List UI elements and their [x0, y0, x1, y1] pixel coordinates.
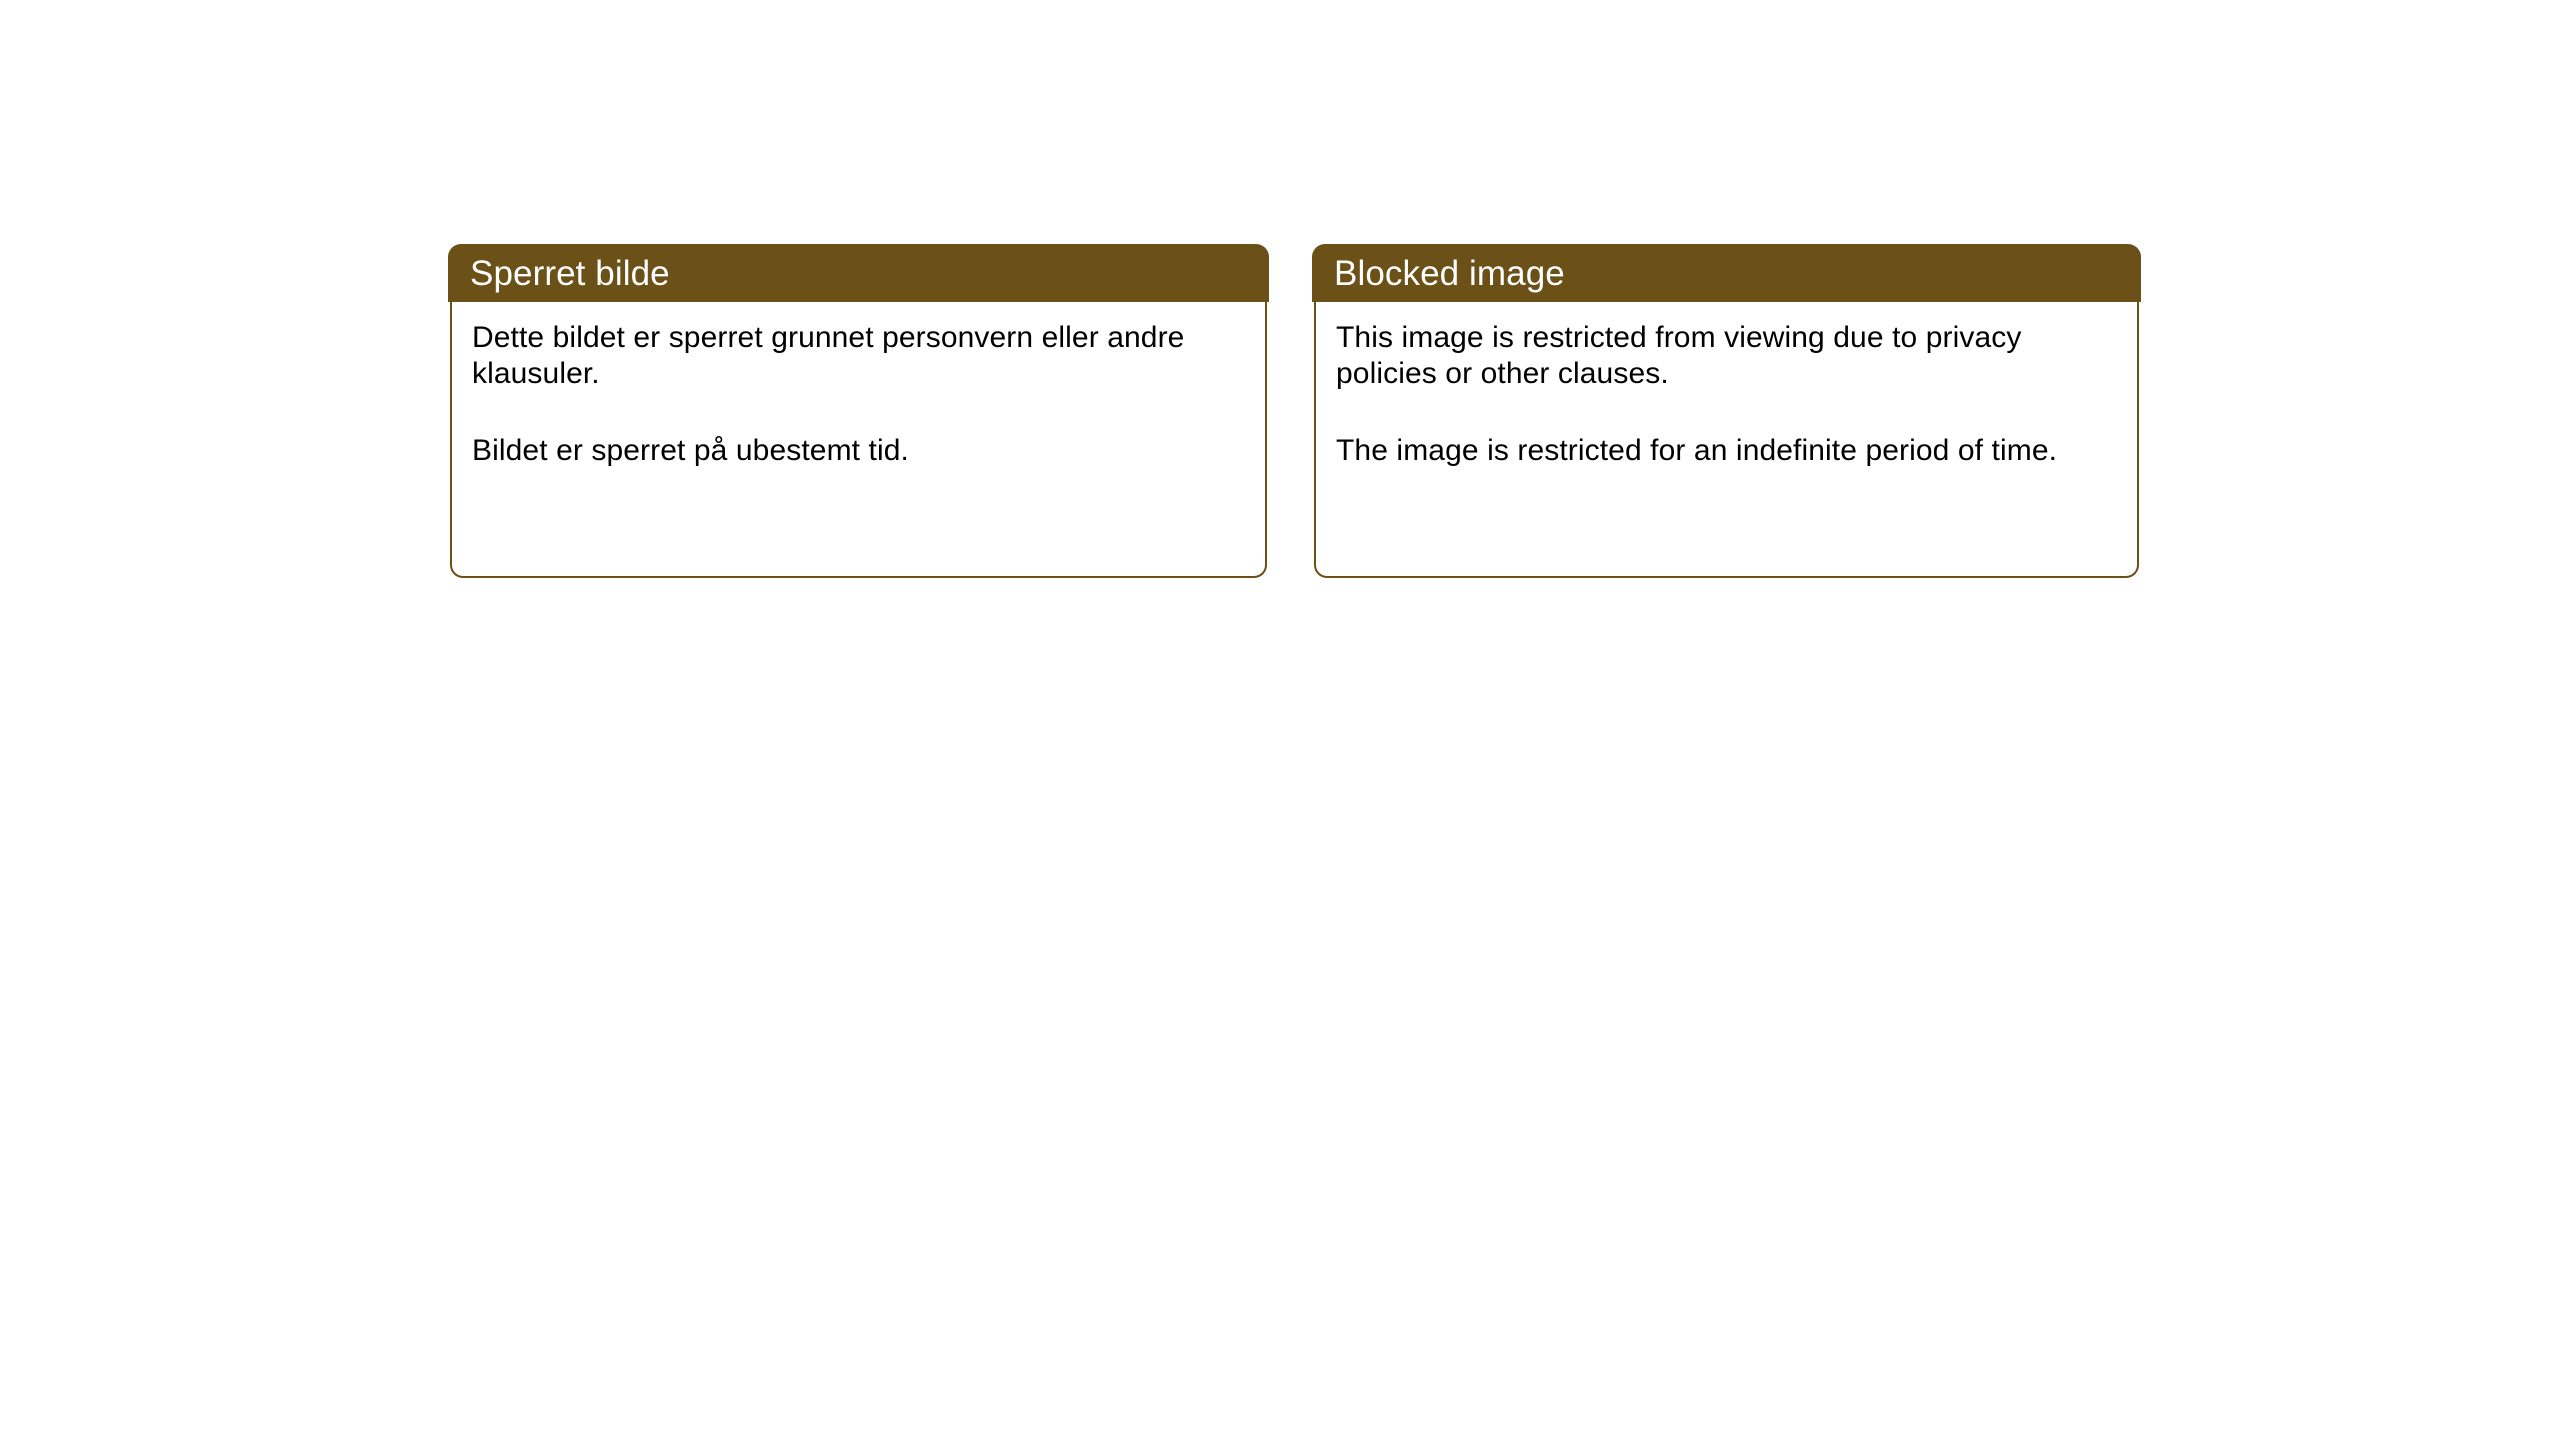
panel-body-en: This image is restricted from viewing du… — [1314, 302, 2139, 578]
panel-paragraph-en-1: This image is restricted from viewing du… — [1336, 320, 2117, 392]
panel-paragraph-en-2: The image is restricted for an indefinit… — [1336, 433, 2117, 469]
panel-title-no: Sperret bilde — [470, 256, 670, 291]
panel-paragraph-no-2: Bildet er sperret på ubestemt tid. — [472, 433, 1245, 469]
panel-header-en: Blocked image — [1312, 244, 2141, 302]
panel-header-no: Sperret bilde — [448, 244, 1269, 302]
panel-title-en: Blocked image — [1334, 256, 1565, 291]
page-canvas: Sperret bilde Dette bildet er sperret gr… — [0, 0, 2560, 1440]
panel-body-no: Dette bildet er sperret grunnet personve… — [450, 302, 1267, 578]
panel-paragraph-no-1: Dette bildet er sperret grunnet personve… — [472, 320, 1245, 392]
